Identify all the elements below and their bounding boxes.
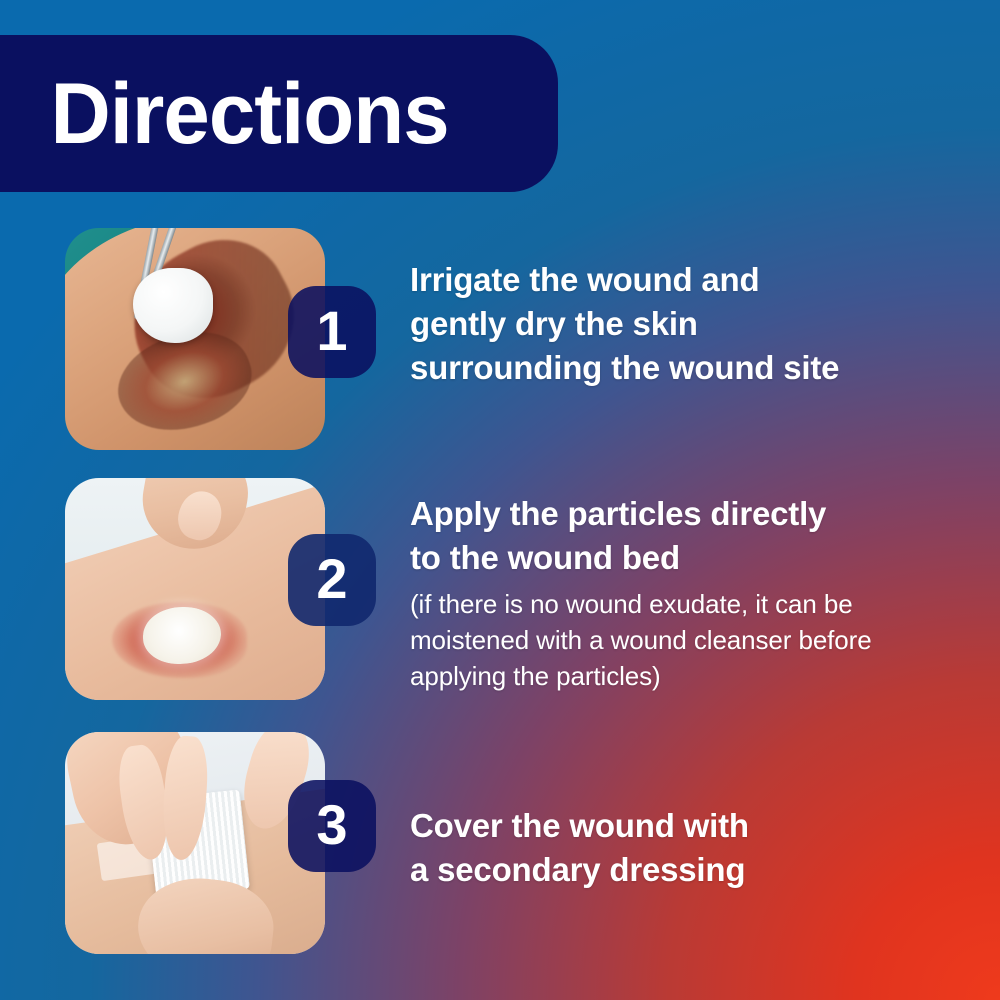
step-title: Apply the particles directly to the woun… bbox=[410, 492, 950, 580]
step-number: 3 bbox=[316, 797, 347, 853]
step-number: 2 bbox=[316, 551, 347, 607]
step-note: (if there is no wound exudate, it can be… bbox=[410, 586, 950, 694]
step-photo-2 bbox=[65, 478, 325, 700]
step-photo-1 bbox=[65, 228, 325, 450]
step-number-badge: 2 bbox=[288, 534, 376, 626]
step-number: 1 bbox=[316, 303, 347, 359]
directions-steps-list: 1 Irrigate the wound and gently dry the … bbox=[0, 0, 1000, 1000]
step-photo-3 bbox=[65, 732, 325, 954]
photo-illustration-wound-cleaning bbox=[65, 228, 325, 450]
step-number-badge: 1 bbox=[288, 286, 376, 378]
step-title: Cover the wound with a secondary dressin… bbox=[410, 804, 950, 892]
photo-illustration-dressing-application bbox=[65, 732, 325, 954]
step-number-badge: 3 bbox=[288, 780, 376, 872]
step-title: Irrigate the wound and gently dry the sk… bbox=[410, 258, 950, 390]
step-text-block: Irrigate the wound and gently dry the sk… bbox=[410, 258, 950, 390]
step-text-block: Apply the particles directly to the woun… bbox=[410, 492, 950, 694]
step-text-block: Cover the wound with a secondary dressin… bbox=[410, 804, 950, 892]
photo-illustration-powder-application bbox=[65, 478, 325, 700]
